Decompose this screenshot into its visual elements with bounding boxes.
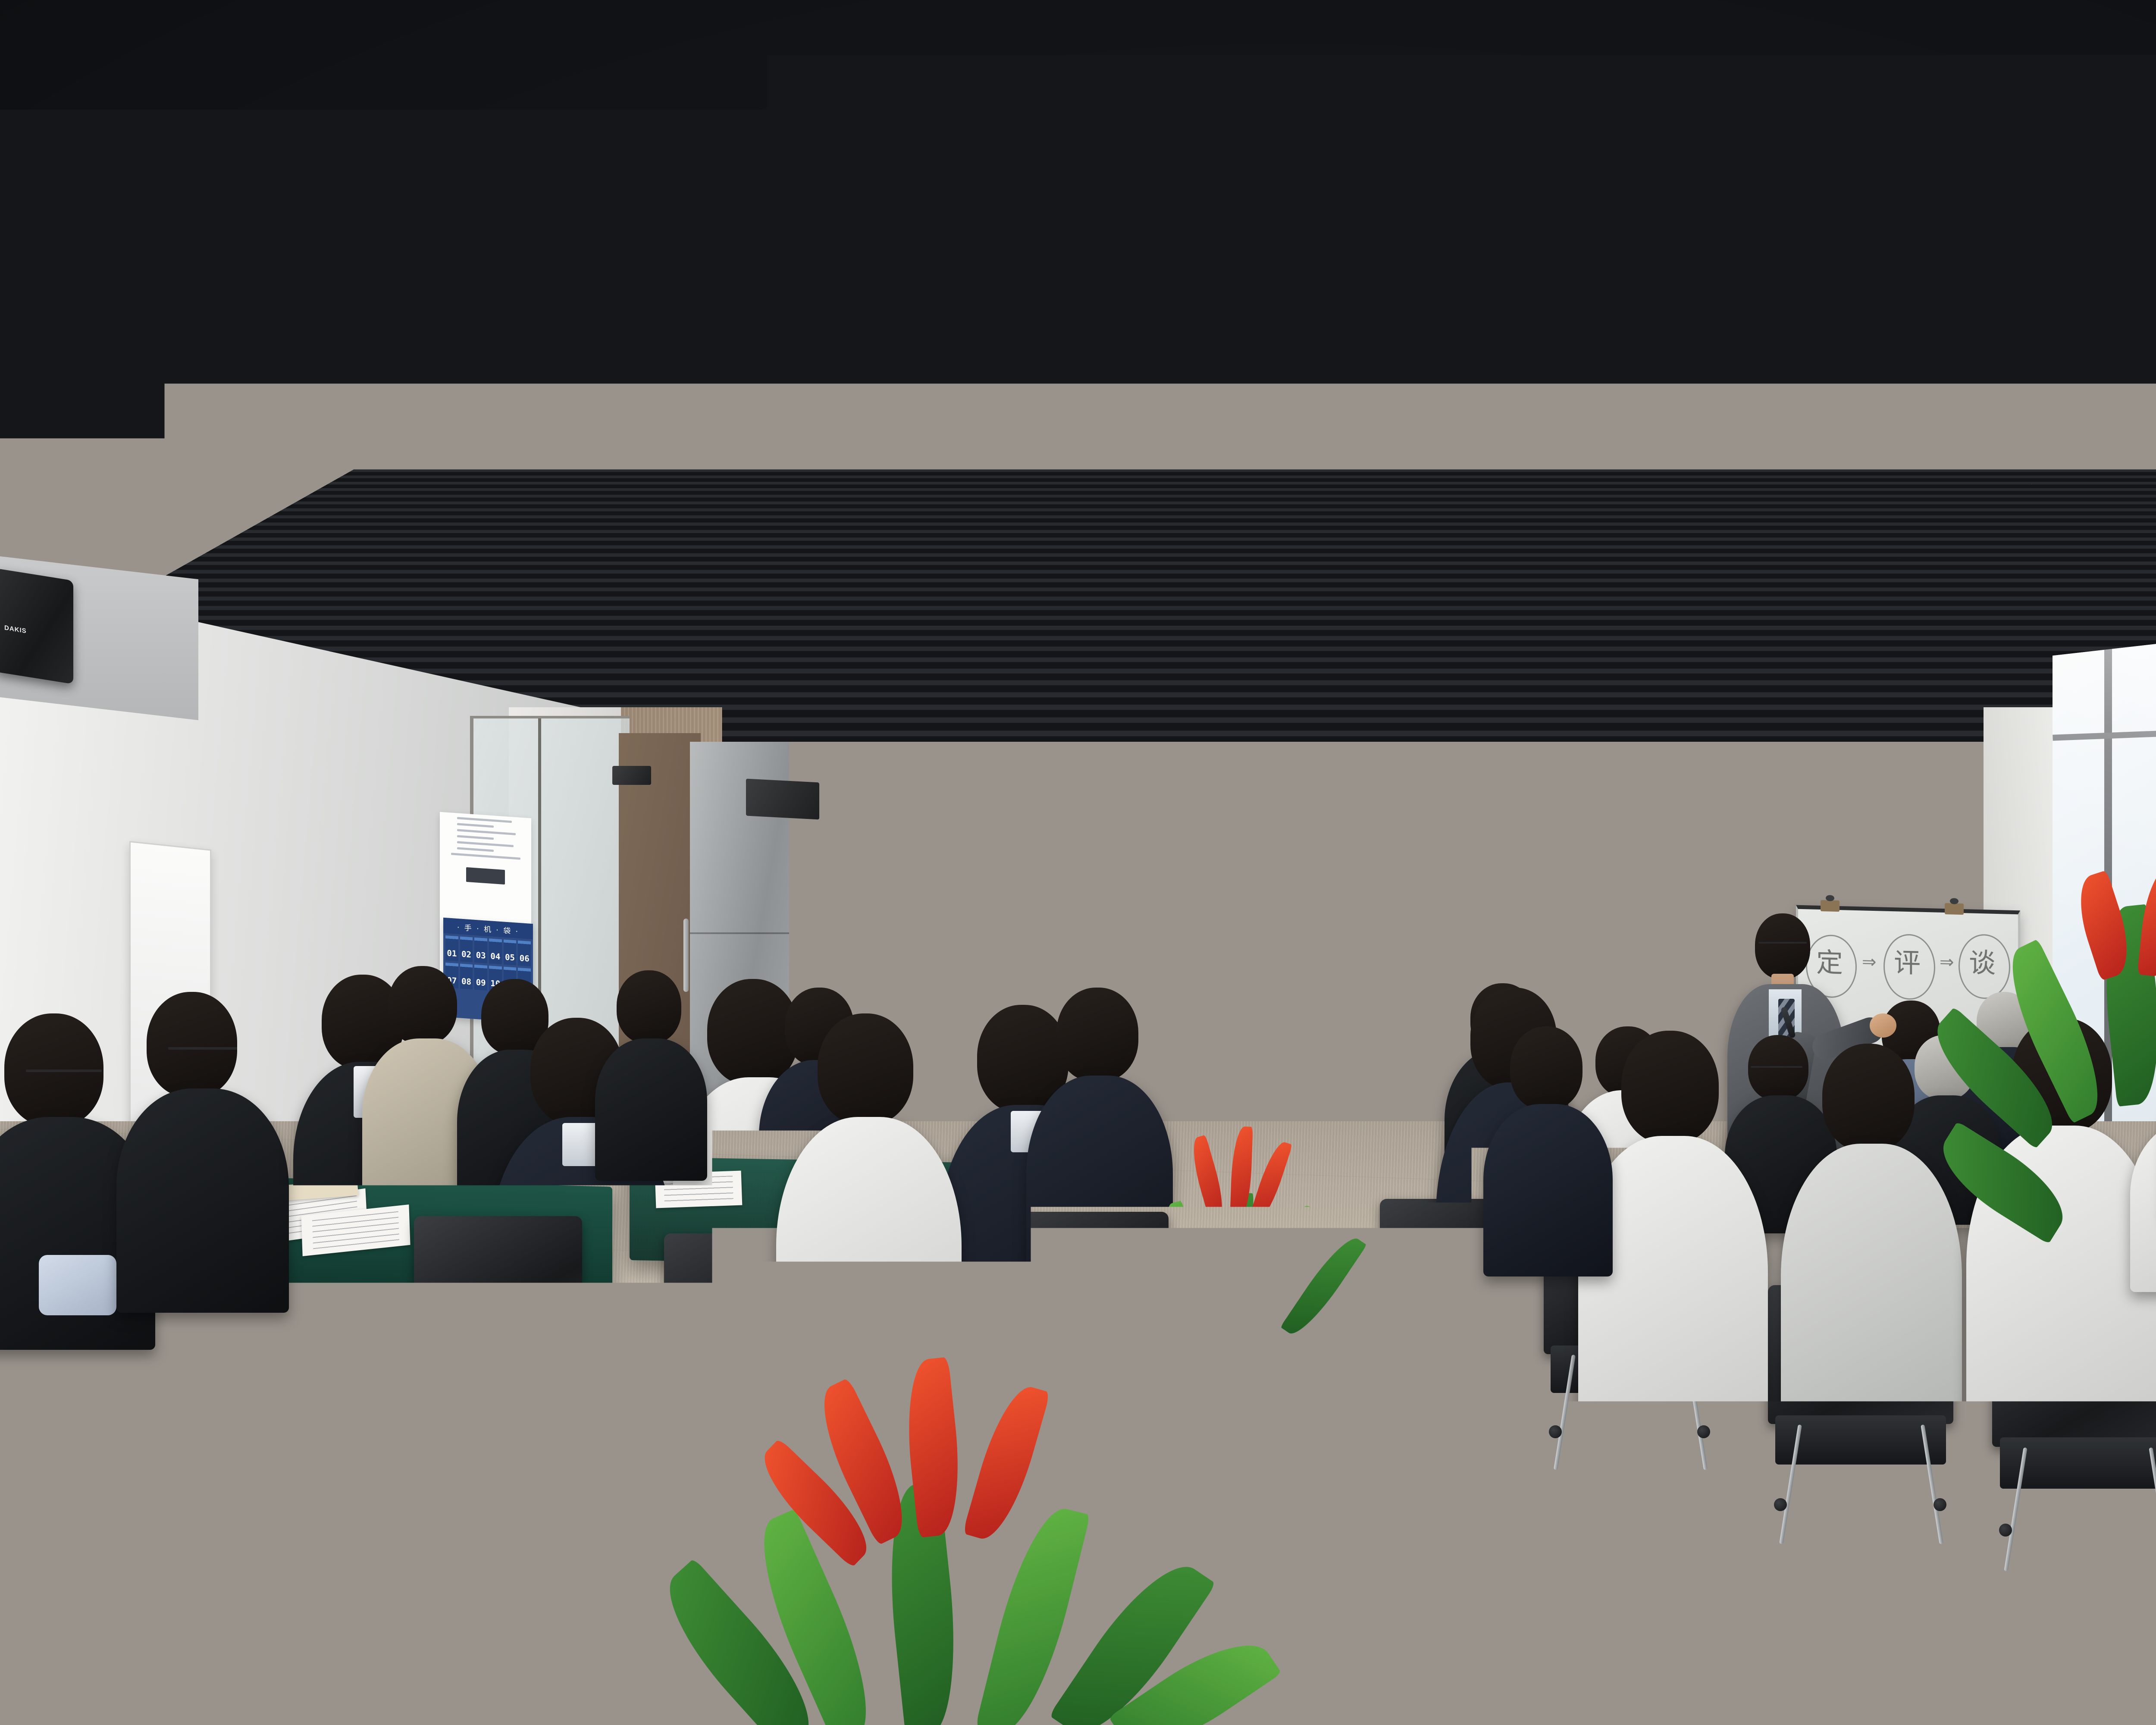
checkbox-icon <box>1177 940 1184 946</box>
speaker-right: DAKIS <box>1785 806 1871 862</box>
torso <box>1781 1144 1962 1446</box>
pocket-slot[interactable]: 01 <box>445 935 458 961</box>
panel-seam <box>1136 883 1586 884</box>
clock-numeral: 3 <box>1715 830 1718 837</box>
wall-mount-bracket <box>612 766 651 785</box>
clock-numeral: 1 <box>1704 811 1708 819</box>
clock-numeral: 9 <box>1671 830 1675 837</box>
plant-bromeliad-foreground <box>768 1371 1156 1725</box>
whiteboard-clip[interactable] <box>1821 900 1839 912</box>
head <box>1621 1031 1719 1144</box>
ceiling-dome-light <box>1319 193 1343 206</box>
attendee <box>595 970 707 1169</box>
poster-text-line <box>457 835 494 840</box>
glasses-icon <box>168 1047 237 1050</box>
clock-numeral: 7 <box>1683 849 1686 856</box>
head <box>818 1013 913 1125</box>
ceiling-dome-light <box>2022 535 2046 548</box>
head <box>617 970 681 1044</box>
shirt-cuff <box>39 1255 116 1315</box>
panel-seam <box>1136 967 1586 968</box>
checkbox-icon <box>1177 869 1184 875</box>
floor-power-outlet[interactable] <box>1239 1449 1296 1469</box>
clock-numeral: 12 <box>1692 808 1699 815</box>
torso <box>595 1038 707 1181</box>
plant-pot <box>2091 1199 2156 1307</box>
whiteboard-glyph: 谈 <box>1969 941 1996 980</box>
chair-caster <box>668 1424 681 1437</box>
checkbox-icon <box>1177 954 1184 960</box>
poster-text-line <box>457 817 512 823</box>
checkbox-icon <box>1177 883 1184 890</box>
presenter-head <box>1755 913 1810 979</box>
list-item: 组织架构调整时，欣然接受，快速投入，仍能保持工作热情，并乐于帮助他人； <box>1177 867 1569 878</box>
glasses-icon <box>26 1069 102 1072</box>
projector-mount-left <box>746 779 819 820</box>
attendee <box>1781 1044 1962 1458</box>
chair-caster <box>1934 1498 1946 1511</box>
bullet-text: 勇于尝试开疆拓土的工作； <box>1188 938 1302 949</box>
list-item: 主动开拓新行业、新市场，打造成功案例； <box>1177 952 1569 963</box>
pocket-slot[interactable]: 02 <box>460 936 473 962</box>
chair-caster <box>1774 1498 1787 1511</box>
checkbox-icon <box>1177 982 1184 989</box>
poster-text-line <box>457 823 494 828</box>
wall-clock: 12 1 2 3 4 5 6 7 8 9 10 11 <box>1660 799 1730 869</box>
bullet-text: 在无薪酬激励的情况下，主动承担带新任务； <box>1188 923 1378 935</box>
bullet-text: 愿意承担虚拟岗位的工作，为团队进行付出； <box>1188 1008 1378 1020</box>
head <box>1510 1026 1583 1110</box>
clock-minute-hand <box>1675 822 1695 834</box>
bullet-text: 遇到客户调整时，不计较个人消耗和得失，勇于承担； <box>1188 909 1416 921</box>
clock-face: 12 1 2 3 4 5 6 7 8 9 10 11 <box>1665 803 1725 864</box>
clock-numeral: 6 <box>1693 852 1697 859</box>
plant-red-bract <box>962 1380 1050 1546</box>
attendee <box>1483 1026 1613 1251</box>
checkbox-icon <box>1177 897 1184 904</box>
poster-text-line <box>457 847 494 852</box>
chair-caster <box>4 1523 17 1536</box>
clock-numeral: 8 <box>1674 841 1678 848</box>
checkbox-icon <box>1177 925 1184 932</box>
slide-subtitle: 3、不计较一时得失，与公司长期共同发展。 <box>1177 844 1432 862</box>
list-item: 在无薪酬激励的情况下，主动承担带新任务； <box>1177 923 1569 935</box>
speaker-brand-label: DAKIS <box>1822 828 1845 836</box>
pot-rim <box>2085 1199 2156 1216</box>
water-bottle[interactable] <box>1046 965 1053 981</box>
clock-date-window <box>1684 841 1706 849</box>
torso <box>1483 1104 1613 1276</box>
pocket-slot[interactable]: 04 <box>489 938 502 964</box>
pocket-slot[interactable]: 06 <box>518 941 531 966</box>
poster-text-line <box>457 841 514 847</box>
presenter-hand <box>1870 1013 1896 1038</box>
pocket-slot[interactable]: 05 <box>504 939 517 965</box>
list-item: 遇到客户调整时，不计较个人消耗和得失，勇于承担； <box>1177 909 1569 921</box>
attendee <box>121 992 285 1311</box>
clock-numeral: 2 <box>1712 819 1715 826</box>
clock-numeral: 4 <box>1712 841 1715 848</box>
panel-seam <box>1286 799 1287 1051</box>
chair-caster <box>1549 1425 1562 1438</box>
chair-caster <box>161 1523 174 1536</box>
bullet-text: 勇于自查，发现团队的合规性的问题，并提出改进建议； <box>1188 1022 1425 1034</box>
ceiling-dome-light <box>341 568 364 581</box>
whiteboard-clip[interactable] <box>1945 903 1964 915</box>
chair-caster <box>1999 1524 2012 1537</box>
chair-seat <box>7 1434 174 1487</box>
bullet-text: 主动选择更难的业务，不求回报。承担更大的责任； <box>1188 895 1406 907</box>
plant-large-right <box>2009 854 2156 1328</box>
head <box>388 966 457 1044</box>
chair-caster <box>564 1407 577 1420</box>
bullet-text: 组织架构调整时，欣然接受，快速投入，仍能保持工作热情，并乐于帮助他人； <box>1188 867 1520 878</box>
whiteboard-arrow: ⇒ <box>1862 952 1877 972</box>
whiteboard-arrow: ⇒ <box>1940 952 1954 972</box>
whiteboard-glyph: 评 <box>1894 941 1921 980</box>
checkbox-icon <box>1177 996 1184 1003</box>
clock-center-pin <box>1693 832 1697 836</box>
speaker-brand-label: DAKIS <box>4 624 27 635</box>
poster-text-line <box>457 829 516 835</box>
bullet-text: 主动带教新人，不计较得失； <box>1188 994 1311 1006</box>
checkbox-icon <box>1177 968 1184 975</box>
plant-bromeliad-center <box>1156 1069 1311 1423</box>
head <box>1822 1044 1915 1151</box>
checkbox-icon <box>1177 1010 1184 1017</box>
torso <box>116 1088 289 1313</box>
slide-title: “投入度”评估素材清单 <box>1136 810 1586 838</box>
plant-red-bract <box>1248 1139 1292 1225</box>
chair-caster <box>420 1407 433 1420</box>
poster-qr-row <box>466 867 505 884</box>
ceiling-camera <box>1363 750 1387 767</box>
pocket-slot[interactable]: 03 <box>474 938 487 963</box>
head <box>147 992 237 1097</box>
head <box>1056 988 1138 1082</box>
clock-numeral: 11 <box>1681 811 1688 819</box>
list-item: 勇于尝试开疆拓土的工作； <box>1177 938 1569 949</box>
list-item: 主动选择更难的业务，不求回报。承担更大的责任； <box>1177 895 1569 907</box>
checkbox-icon <box>1177 1025 1184 1031</box>
clock-numeral: 5 <box>1704 849 1708 856</box>
checkbox-icon <box>1177 911 1184 918</box>
floor-power-outlet[interactable] <box>1231 1483 1287 1503</box>
bullet-text: 主动开拓新行业、新市场，打造成功案例； <box>1188 952 1368 963</box>
poster-text-line <box>451 853 520 859</box>
speaker-left: DAKIS <box>0 568 73 684</box>
plant-red-bract <box>1187 1135 1229 1223</box>
bullet-text: 当销售考核制度发生了短期不利于个人的变化时，勇于接纳； <box>1188 980 1444 992</box>
attendee <box>1026 988 1173 1298</box>
photo-scene: “投入度”评估素材清单 3、不计较一时得失，与公司长期共同发展。 组织架构调整时… <box>0 0 2156 1725</box>
shirt-collar <box>562 1123 599 1166</box>
glasses-icon <box>1758 942 1807 944</box>
